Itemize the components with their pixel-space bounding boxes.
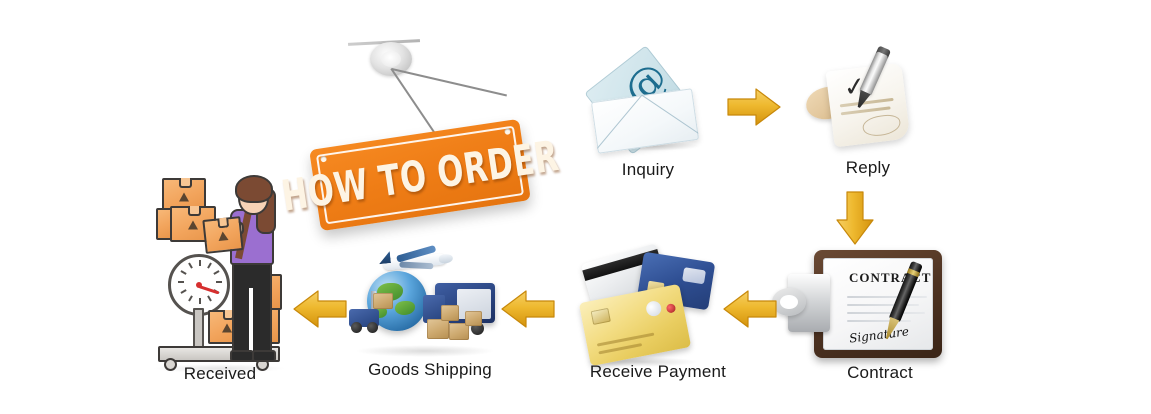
warehouse-scale-boxes-person-icon <box>152 178 292 373</box>
dial-hub <box>196 282 202 288</box>
forklift-wheel <box>351 322 362 333</box>
cargo-box <box>427 319 449 339</box>
fragile-mark <box>179 192 189 201</box>
forklift-wheel <box>367 322 378 333</box>
label-inquiry: Inquiry <box>578 160 718 180</box>
weighing-scale-dial <box>168 254 230 316</box>
credit-cards-icon <box>578 245 738 373</box>
person-legs <box>232 260 272 358</box>
label-goods-shipping: Goods Shipping <box>340 360 520 380</box>
dial-tick <box>199 260 201 266</box>
cargo-box <box>465 311 482 326</box>
dial-tick <box>188 262 193 268</box>
step-goods-shipping <box>345 245 515 375</box>
forklift-icon <box>347 291 389 331</box>
dial-tick <box>213 270 219 275</box>
cargo-box <box>441 305 459 321</box>
box-tape <box>188 206 201 216</box>
fragile-mark <box>188 220 198 229</box>
globe-landmass <box>395 301 415 315</box>
dial-tick <box>188 295 193 301</box>
person-hair <box>235 175 273 203</box>
arrow-inquiry-to-reply <box>726 86 782 128</box>
cargo-box <box>373 293 393 309</box>
dial-tick <box>199 298 201 304</box>
plane-tail <box>378 251 391 264</box>
arrow-reply-to-contract <box>834 190 876 246</box>
arrow-shipping-to-received <box>292 288 348 330</box>
card-chip <box>591 308 611 325</box>
person-shoe <box>252 350 276 362</box>
email-envelope-at-icon: @ <box>590 61 702 145</box>
card-number-line <box>597 333 655 347</box>
fragile-mark <box>218 231 229 241</box>
shipping-shadow <box>355 345 495 357</box>
card-hologram <box>645 300 663 318</box>
parcel-box-held <box>202 216 243 254</box>
contract-line <box>847 312 925 314</box>
clipboard-frame: CONTRACT Signature <box>814 250 942 358</box>
sign-board: HOW TO ORDER <box>309 119 531 231</box>
dial-tick <box>180 289 186 294</box>
label-receive-payment: Receive Payment <box>568 362 748 382</box>
how-to-order-sign: HOW TO ORDER <box>300 38 540 238</box>
card-logo-dot <box>666 303 677 314</box>
label-reply: Reply <box>798 158 938 178</box>
how-to-order-infographic: HOW TO ORDER @ Inquiry ✓ <box>0 0 1151 414</box>
box-tape <box>217 217 229 228</box>
person-shoe <box>230 350 254 362</box>
step-contract: CONTRACT Signature <box>800 248 960 373</box>
plane-nose <box>438 254 453 264</box>
box-tape <box>179 178 192 188</box>
fragile-mark <box>222 323 232 332</box>
dial-tick <box>216 281 222 283</box>
dial-tick <box>180 270 186 275</box>
step-receive-payment <box>578 245 738 373</box>
card-hologram <box>682 267 706 284</box>
sign-wire-right <box>392 68 507 96</box>
contract-line <box>847 296 927 298</box>
scroll-seal <box>862 113 902 137</box>
label-contract: Contract <box>800 363 960 383</box>
dial-tick <box>178 281 184 283</box>
contract-line <box>847 304 919 306</box>
step-received <box>152 178 292 373</box>
dial-tick <box>207 262 212 268</box>
sign-title: HOW TO ORDER <box>304 107 535 243</box>
clipboard-contract-pen-icon: CONTRACT Signature <box>800 248 960 373</box>
dial-tick <box>207 295 212 301</box>
signature-text: Signature <box>848 324 909 345</box>
label-received: Received <box>145 364 295 384</box>
plane-globe-truck-icon <box>345 245 515 375</box>
contract-line <box>847 320 911 322</box>
